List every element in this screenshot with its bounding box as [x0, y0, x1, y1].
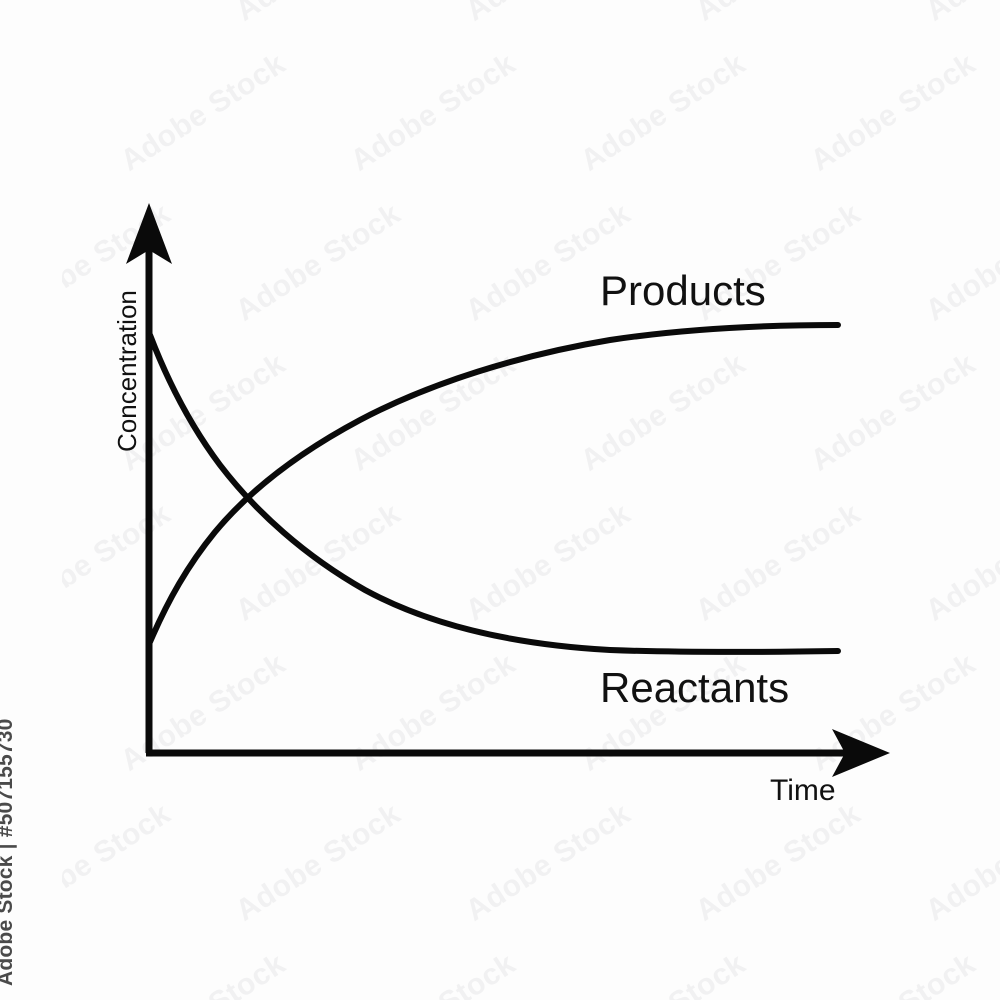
- products-curve: [150, 325, 838, 642]
- products-label: Products: [600, 267, 766, 314]
- equilibrium-concentration-chart: Products Reactants Time Concentration: [0, 0, 1000, 1000]
- figure-canvas: Adobe StockAdobe StockAdobe StockAdobe S…: [0, 0, 1000, 1000]
- y-axis-label: Concentration: [112, 290, 142, 452]
- x-axis-label: Time: [770, 774, 836, 807]
- reactants-label: Reactants: [600, 664, 789, 711]
